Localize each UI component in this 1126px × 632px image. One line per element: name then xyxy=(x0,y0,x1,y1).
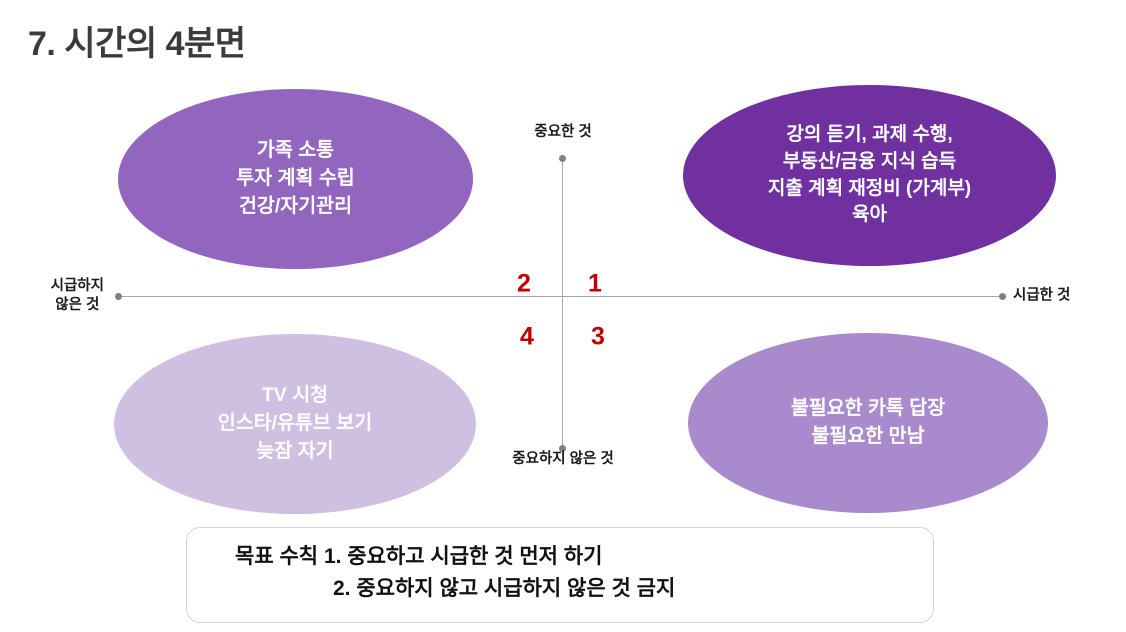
quadrant-bubble-q1-text: 강의 듣기, 과제 수행, 부동산/금융 지식 습득 지출 계획 재정비 (가계… xyxy=(768,122,971,230)
bubble-q4-line-2: 인스타/유튜브 보기 xyxy=(218,410,372,438)
bubble-q4-line-3: 늦잠 자기 xyxy=(218,438,372,466)
quadrant-number-2: 2 xyxy=(517,272,531,297)
bubble-q1-line-4: 육아 xyxy=(768,202,971,229)
rules-box: 목표 수칙 1. 중요하고 시급한 것 먼저 하기 2. 중요하지 않고 시급하… xyxy=(186,527,934,623)
rule-line-2: 2. 중요하지 않고 시급하지 않은 것 금지 xyxy=(213,573,907,605)
bubble-q3-line-1: 불필요한 카톡 답장 xyxy=(791,395,945,423)
axis-label-not-urgent-line2: 않은 것 xyxy=(51,296,104,315)
axis-label-urgent: 시급한 것 xyxy=(1013,286,1070,305)
axis-endpoint-dot-top xyxy=(559,155,566,162)
axis-label-not-urgent: 시급하지 않은 것 xyxy=(51,277,104,315)
bubble-q1-line-3: 지출 계획 재정비 (가계부) xyxy=(768,176,971,203)
horizontal-axis-line xyxy=(118,296,1002,297)
quadrant-bubble-q2-text: 가족 소통 투자 계획 수립 건강/자기관리 xyxy=(236,137,354,220)
rule-line-1: 목표 수칙 1. 중요하고 시급한 것 먼저 하기 xyxy=(213,541,907,573)
bubble-q2-line-1: 가족 소통 xyxy=(236,137,354,165)
quadrant-bubble-q3-text: 불필요한 카톡 답장 불필요한 만남 xyxy=(791,395,945,450)
bubble-q1-line-2: 부동산/금융 지식 습득 xyxy=(768,149,971,176)
axis-label-important: 중요한 것 xyxy=(534,123,591,142)
axis-label-not-urgent-line1: 시급하지 xyxy=(51,277,104,296)
axis-endpoint-dot-left xyxy=(115,293,122,300)
quadrant-bubble-q4-text: TV 시청 인스타/유튜브 보기 늦잠 자기 xyxy=(218,382,372,465)
quadrant-number-3: 3 xyxy=(591,325,605,350)
bubble-q3-line-2: 불필요한 만남 xyxy=(791,423,945,451)
quadrant-bubble-q1: 강의 듣기, 과제 수행, 부동산/금융 지식 습득 지출 계획 재정비 (가계… xyxy=(683,85,1056,266)
vertical-axis-line xyxy=(562,158,563,448)
bubble-q1-line-1: 강의 듣기, 과제 수행, xyxy=(768,122,971,149)
quadrant-bubble-q3: 불필요한 카톡 답장 불필요한 만남 xyxy=(688,333,1048,513)
quadrant-bubble-q4: TV 시청 인스타/유튜브 보기 늦잠 자기 xyxy=(114,334,476,514)
slide-canvas: 7. 시간의 4분면 중요한 것 중요하지 않은 것 시급하지 않은 것 시급한… xyxy=(0,0,1126,632)
bubble-q4-line-1: TV 시청 xyxy=(218,382,372,410)
quadrant-bubble-q2: 가족 소통 투자 계획 수립 건강/자기관리 xyxy=(118,89,473,269)
bubble-q2-line-3: 건강/자기관리 xyxy=(236,193,354,221)
quadrant-number-4: 4 xyxy=(520,325,534,350)
axis-label-not-important: 중요하지 않은 것 xyxy=(512,450,613,469)
axis-endpoint-dot-right xyxy=(999,293,1006,300)
bubble-q2-line-2: 투자 계획 수립 xyxy=(236,165,354,193)
quadrant-number-1: 1 xyxy=(588,272,602,297)
page-title: 7. 시간의 4분면 xyxy=(28,16,246,65)
